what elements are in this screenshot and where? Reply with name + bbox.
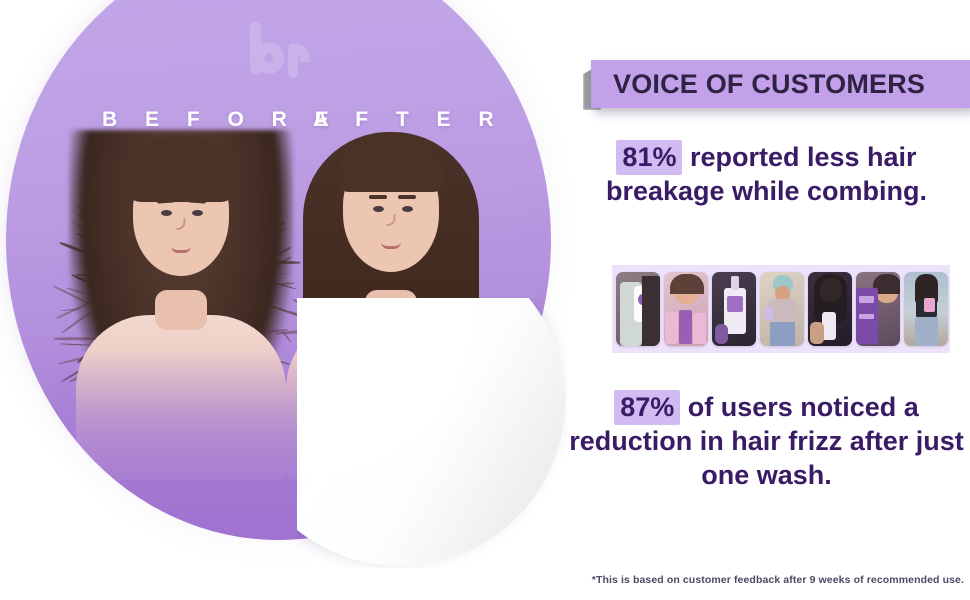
testimonial-thumbnail[interactable] bbox=[664, 272, 708, 346]
after-shirt bbox=[286, 315, 496, 480]
banner-title: VOICE OF CUSTOMERS bbox=[591, 69, 925, 100]
before-neck bbox=[155, 290, 207, 330]
before-photo-subject bbox=[66, 60, 296, 480]
after-neck bbox=[365, 290, 417, 330]
stat-percent-2: 87% bbox=[614, 390, 680, 425]
testimonial-thumbnail[interactable] bbox=[808, 272, 852, 346]
voice-of-customers-banner: VOICE OF CUSTOMERS bbox=[583, 60, 970, 110]
testimonial-thumbnail[interactable] bbox=[856, 272, 900, 346]
after-eye-left bbox=[373, 206, 384, 212]
after-brow-right bbox=[398, 195, 416, 199]
sticker-circle: B E F O R E A F T E R bbox=[6, 0, 551, 540]
customer-testimonial-thumbnails[interactable] bbox=[612, 265, 950, 353]
after-brow-left bbox=[369, 195, 387, 199]
after-eye-right bbox=[402, 206, 413, 212]
before-after-sticker: B E F O R E A F T E R bbox=[0, 0, 575, 600]
before-eye-left bbox=[161, 210, 172, 216]
content-panel: VOICE OF CUSTOMERS 81% reported less hai… bbox=[563, 0, 970, 600]
after-photo-subject bbox=[276, 60, 506, 480]
stat-block-breakage: 81% reported less hair breakage while co… bbox=[563, 140, 970, 208]
before-shirt bbox=[76, 315, 286, 480]
testimonial-thumbnail[interactable] bbox=[760, 272, 804, 346]
testimonial-thumbnail[interactable] bbox=[712, 272, 756, 346]
stat-block-frizz: 87% of users noticed a reduction in hair… bbox=[563, 390, 970, 492]
testimonial-thumbnail[interactable] bbox=[616, 272, 660, 346]
testimonial-thumbnail[interactable] bbox=[904, 272, 948, 346]
before-eye-right bbox=[192, 210, 203, 216]
banner-body: VOICE OF CUSTOMERS bbox=[591, 60, 970, 108]
stat-percent-1: 81% bbox=[616, 140, 682, 175]
footnote-disclaimer: *This is based on customer feedback afte… bbox=[563, 574, 970, 586]
